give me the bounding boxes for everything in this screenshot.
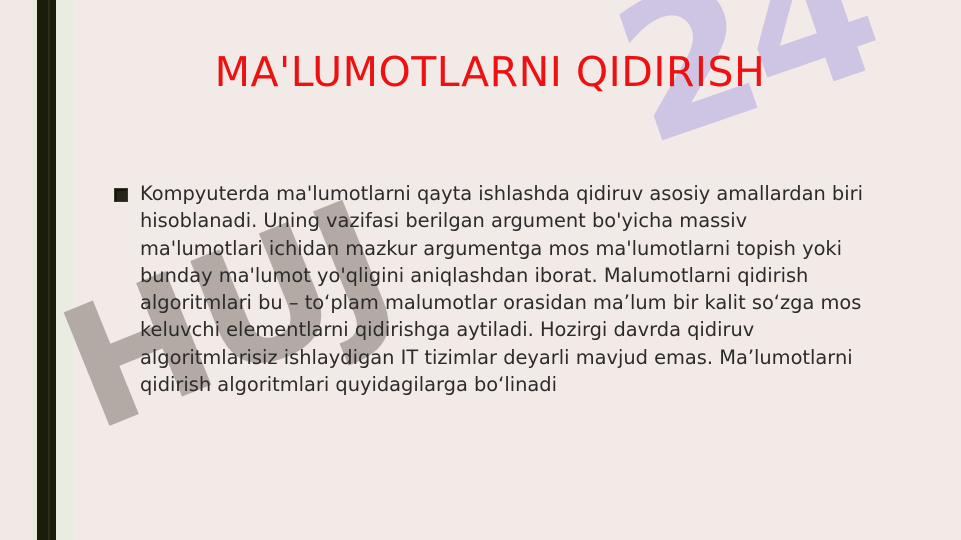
slide-body: Kompyuterda ma'lumotlarni qayta ishlashd…: [114, 180, 874, 398]
left-band-dark-highlight: [48, 0, 50, 540]
left-band-pink: [0, 0, 33, 540]
bullet-item: Kompyuterda ma'lumotlarni qayta ishlashd…: [114, 180, 874, 398]
bullet-paragraph: Kompyuterda ma'lumotlarni qayta ishlashd…: [140, 180, 874, 398]
bullet-square-icon: [114, 188, 128, 202]
slide-title: MA'LUMOTLARNI QIDIRISH: [90, 48, 890, 96]
left-band-green-inner: [56, 0, 73, 540]
left-band-dark-bar: [37, 0, 56, 540]
presentation-slide: 24 HUJ MA'LUMOTLARNI QIDIRISH Kompyuterd…: [0, 0, 961, 540]
